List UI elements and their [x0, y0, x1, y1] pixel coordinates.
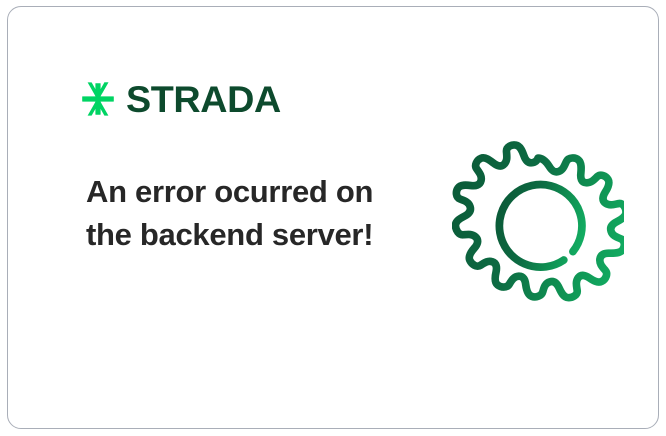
gear-cog-icon — [452, 141, 624, 313]
brand-wordmark: STRADA — [126, 81, 281, 118]
error-message-text: An error ocurred on the backend server! — [86, 170, 386, 256]
error-card: STRADA An error ocurred on the backend s… — [7, 6, 659, 429]
brand-logo: STRADA — [78, 75, 278, 123]
strada-asterisk-icon — [78, 79, 118, 119]
